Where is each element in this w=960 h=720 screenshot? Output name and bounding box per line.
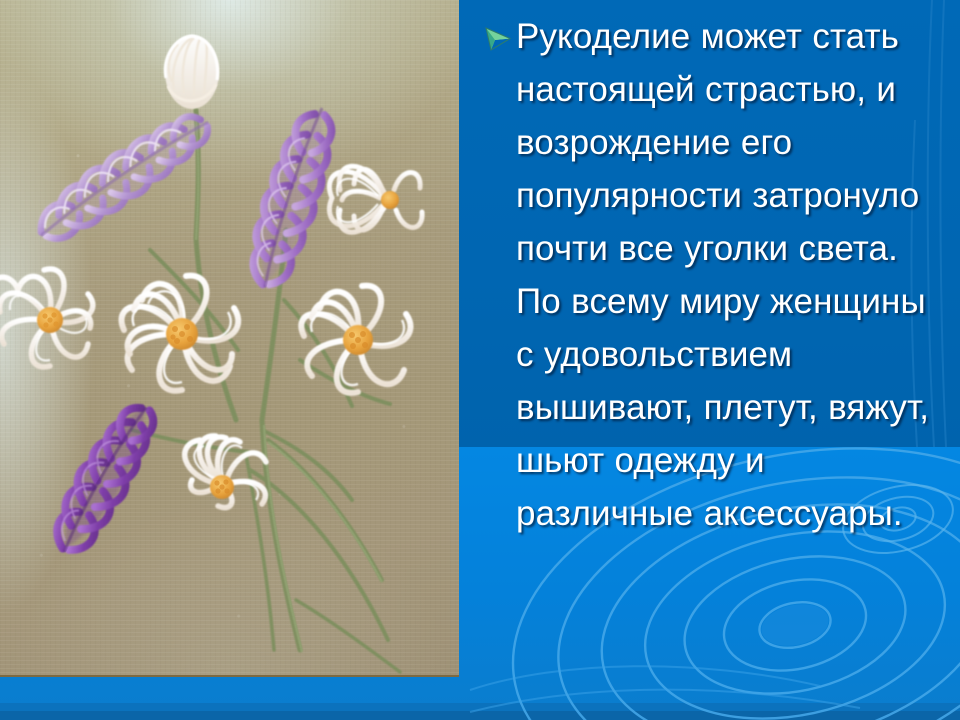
slide-footer-strip [0,711,960,720]
presentation-slide: Рукоделие может стать настоящей страстью… [0,0,960,720]
slide-text-body: Рукоделие может стать настоящей страстью… [478,10,950,700]
body-paragraph-text: Рукоделие может стать настоящей страстью… [478,10,950,540]
embroidery-photo [0,0,459,677]
arrowhead-bullet-icon [484,26,512,52]
slide-footer-strip-upper [0,703,960,711]
photo-border [0,0,459,677]
bullet-paragraph: Рукоделие может стать настоящей страстью… [478,10,950,540]
